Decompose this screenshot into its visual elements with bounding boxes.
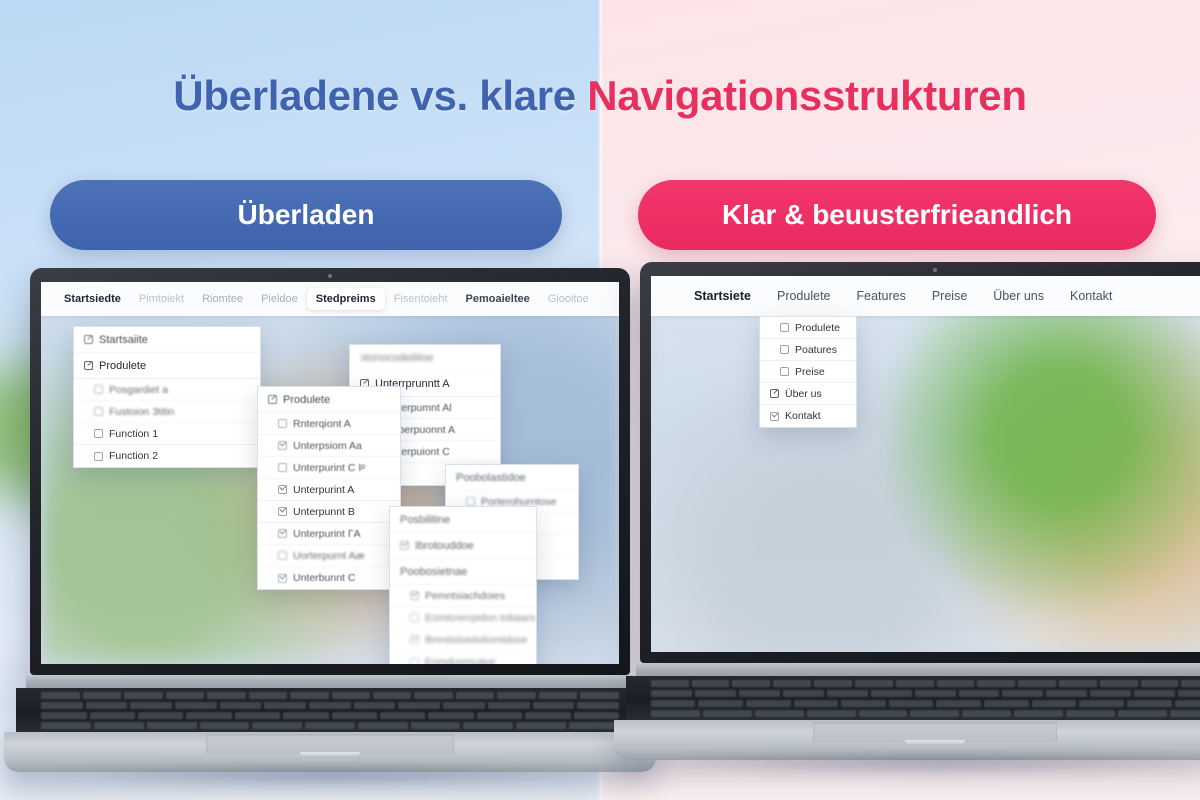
- panel-row-label: Posgardiet a: [109, 384, 168, 396]
- panel-row-label: Pemntsiachdoies: [425, 590, 505, 602]
- checkbox-icon[interactable]: [94, 429, 103, 438]
- panel-row[interactable]: Bmntistoioloitomtdose: [390, 629, 536, 651]
- badge-clear-label: Klar & beuusterfrieandlich: [722, 199, 1072, 231]
- nav-item-produlete[interactable]: Produlete: [764, 284, 844, 308]
- panel-row[interactable]: Eomduomuäve: [390, 651, 536, 664]
- panel-row-label: Startsaiite: [99, 334, 148, 346]
- panel-row[interactable]: Produlete: [258, 387, 400, 413]
- panel-row-label: Function 1: [109, 428, 158, 440]
- pen-icon: [268, 395, 277, 404]
- dropdown-panel-quinary[interactable]: Posbilitine Ibrotouddoe Poobosietnae Pem…: [389, 506, 537, 664]
- screen-overloaded: Startsiedte Pimtoiekt Riomtee Pieldoe St…: [41, 282, 619, 664]
- panel-row[interactable]: Unterpurint A: [258, 479, 400, 501]
- panel-row[interactable]: Posgardiet a: [74, 379, 260, 401]
- panel-row[interactable]: Ibrotouddoe: [390, 533, 536, 559]
- checkbox-icon[interactable]: [770, 412, 779, 421]
- hinge-strip-right: [636, 663, 1200, 676]
- nav-item-kontakt[interactable]: Kontakt: [1057, 284, 1125, 308]
- laptop-clear: Startsiete Produlete Features Preise Übe…: [640, 262, 1200, 760]
- panel-row[interactable]: Über us: [760, 383, 856, 405]
- pen-icon: [770, 389, 779, 398]
- nav-item-ueber-uns[interactable]: Über uns: [980, 284, 1057, 308]
- nav-item-riomtee[interactable]: Riomtee: [193, 288, 252, 310]
- webcam-icon-left: [328, 274, 332, 278]
- nav-item-pemoaieltee[interactable]: Pemoaieltee: [457, 288, 539, 310]
- nav-item-pieldoe[interactable]: Pieldoe: [252, 288, 307, 310]
- panel-row-label: Unterpurint ΓA: [293, 528, 361, 540]
- nav-item-features[interactable]: Features: [844, 284, 919, 308]
- page-title-blue: Überladene vs. klare: [173, 72, 587, 119]
- nav-item-startsiete[interactable]: Startsiete: [681, 284, 764, 308]
- comparison-stage: Überladene vs. klare Navigationsstruktur…: [0, 0, 1200, 800]
- panel-row-label: Unterpurint A: [293, 484, 354, 496]
- laptop-overloaded: Startsiedte Pimtoiekt Riomtee Pieldoe St…: [30, 268, 630, 772]
- checkbox-icon[interactable]: [278, 529, 287, 538]
- panel-row[interactable]: Preise: [760, 361, 856, 383]
- checkbox-icon[interactable]: [94, 452, 103, 461]
- panel-row[interactable]: Fustoion 3titin: [74, 401, 260, 423]
- panel-row-label: Uorterpurnt Aæ: [293, 550, 365, 562]
- lid-notch-left: [300, 752, 360, 756]
- webcam-icon-right: [933, 268, 937, 272]
- panel-row-label: Kontakt: [785, 410, 821, 422]
- pen-icon: [84, 335, 93, 344]
- panel-row[interactable]: Eomtcrerrpidon·tobaars: [390, 607, 536, 629]
- panel-row[interactable]: Kontakt: [760, 405, 856, 427]
- nav-item-fisentoieht[interactable]: Fisentoieht: [385, 288, 457, 310]
- panel-row[interactable]: ɔtonocodeiiitoe: [350, 345, 500, 371]
- panel-row-label: Über us: [785, 388, 822, 400]
- nav-item-pimtoiekt[interactable]: Pimtoiekt: [130, 288, 193, 310]
- laptop-lid-left: Startsiedte Pimtoiekt Riomtee Pieldoe St…: [30, 268, 630, 675]
- panel-row[interactable]: Unterbunnt C: [258, 567, 400, 589]
- checkbox-icon[interactable]: [278, 485, 287, 494]
- navbar-overloaded[interactable]: Startsiedte Pimtoiekt Riomtee Pieldoe St…: [41, 282, 619, 316]
- panel-row[interactable]: Pemntsiachdoies: [390, 585, 536, 607]
- panel-row-label: Ibrotouddoe: [415, 540, 474, 552]
- panel-row-label: Eomduomuäve: [425, 656, 496, 664]
- panel-row[interactable]: Rnterqiont A: [258, 413, 400, 435]
- panel-row-label: Unterpsiom Aa: [293, 440, 362, 452]
- screen-clear: Startsiete Produlete Features Preise Übe…: [651, 276, 1200, 652]
- checkbox-icon[interactable]: [410, 613, 419, 622]
- panel-row-label: Unterpurint C Iᵖ: [293, 462, 365, 474]
- checkbox-icon[interactable]: [400, 541, 409, 550]
- panel-row-label: Rnterqiont A: [293, 418, 351, 430]
- page-title-pink: Navigationsstrukturen: [587, 72, 1026, 119]
- page-title: Überladene vs. klare Navigationsstruktur…: [0, 72, 1200, 120]
- hinge-strip-left: [26, 675, 634, 688]
- keyboard-left: [16, 688, 644, 732]
- dropdown-panel-primary[interactable]: Startsaiite Produlete Posgardiet a Fusto…: [73, 326, 261, 468]
- laptop-base-right: [640, 663, 1200, 760]
- panel-row-label: Produlete: [99, 360, 146, 372]
- lid-notch-right: [905, 740, 965, 744]
- laptop-shadow-left: [54, 766, 606, 788]
- panel-row-label: Bmntistoioloitomtdose: [425, 634, 528, 646]
- badge-overloaded: Überladen: [50, 180, 562, 250]
- checkbox-icon[interactable]: [780, 367, 789, 376]
- panel-row[interactable]: Produlete: [760, 317, 856, 339]
- laptop-lid-right: Startsiete Produlete Features Preise Übe…: [640, 262, 1200, 663]
- checkbox-icon[interactable]: [410, 591, 419, 600]
- panel-row[interactable]: Produlete: [74, 353, 260, 379]
- trackpad-left[interactable]: [206, 734, 454, 754]
- panel-row[interactable]: Uorterpurnt Aæ: [258, 545, 400, 567]
- panel-row[interactable]: Poobolastidoe: [446, 465, 578, 491]
- checkbox-icon[interactable]: [278, 419, 287, 428]
- panel-row[interactable]: Startsaiite: [74, 327, 260, 353]
- checkbox-icon[interactable]: [466, 497, 475, 506]
- panel-row[interactable]: Function 1: [74, 423, 260, 445]
- panel-row-label: Eomtcrerrpidon·tobaars: [425, 612, 535, 624]
- panel-row[interactable]: Poatures: [760, 339, 856, 361]
- checkbox-icon[interactable]: [278, 574, 287, 583]
- checkbox-icon[interactable]: [94, 407, 103, 416]
- checkbox-icon[interactable]: [410, 658, 419, 665]
- nav-item-startsiedte[interactable]: Startsiedte: [55, 288, 130, 310]
- panel-row-label: Poobolastidoe: [456, 472, 526, 484]
- panel-row-label: Poobosietnae: [400, 566, 467, 578]
- badge-overloaded-label: Überladen: [238, 199, 375, 231]
- laptop-shadow-right: [664, 754, 1200, 776]
- screen-wallpaper-right: [651, 276, 1200, 652]
- panel-row[interactable]: Function 2: [74, 445, 260, 467]
- panel-row-label: Posbilitine: [400, 514, 450, 526]
- checkbox-icon[interactable]: [278, 441, 287, 450]
- panel-row-label: Produlete: [795, 322, 840, 334]
- checkbox-icon[interactable]: [780, 323, 789, 332]
- checkbox-icon[interactable]: [278, 463, 287, 472]
- pen-icon: [84, 361, 93, 370]
- dropdown-panel-secondary[interactable]: Produlete Rnterqiont A Unterpsiom Aa Unt…: [257, 386, 401, 590]
- checkbox-icon[interactable]: [278, 507, 287, 516]
- keyboard-right: [626, 676, 1200, 720]
- panel-row[interactable]: Unterpurint ΓA: [258, 523, 400, 545]
- badge-clear: Klar & beuusterfrieandlich: [638, 180, 1156, 250]
- panel-row[interactable]: Poobosietnae: [390, 559, 536, 585]
- panel-row-label: Poatures: [795, 344, 837, 356]
- navbar-clear[interactable]: Startsiete Produlete Features Preise Übe…: [651, 276, 1200, 316]
- panel-row-label: Preise: [795, 366, 825, 378]
- checkbox-icon[interactable]: [410, 635, 419, 644]
- checkbox-icon[interactable]: [94, 385, 103, 394]
- panel-row[interactable]: Unterpunnt B: [258, 501, 400, 523]
- checkbox-icon[interactable]: [780, 345, 789, 354]
- trackpad-right[interactable]: [813, 722, 1057, 742]
- nav-item-stedpreims[interactable]: Stedpreims: [307, 288, 385, 310]
- panel-row-label: Unterbunnt C: [293, 572, 355, 584]
- panel-row[interactable]: Posbilitine: [390, 507, 536, 533]
- dropdown-panel-clear[interactable]: Produlete Poatures Preise Über us: [759, 316, 857, 428]
- panel-row-label: ɔtonocodeiiitoe: [360, 352, 433, 364]
- nav-item-giooitoe[interactable]: Giooitoe: [539, 288, 598, 310]
- nav-item-preise[interactable]: Preise: [919, 284, 980, 308]
- panel-row-label: Fustoion 3titin: [109, 406, 174, 418]
- panel-row-label: Function 2: [109, 450, 158, 462]
- panel-row[interactable]: Unterpurint C Iᵖ: [258, 457, 400, 479]
- checkbox-icon[interactable]: [278, 551, 287, 560]
- panel-row[interactable]: Unterpsiom Aa: [258, 435, 400, 457]
- panel-row-label: Unterpunnt B: [293, 506, 355, 518]
- panel-row-label: Produlete: [283, 394, 330, 406]
- laptop-base-left: [30, 675, 630, 772]
